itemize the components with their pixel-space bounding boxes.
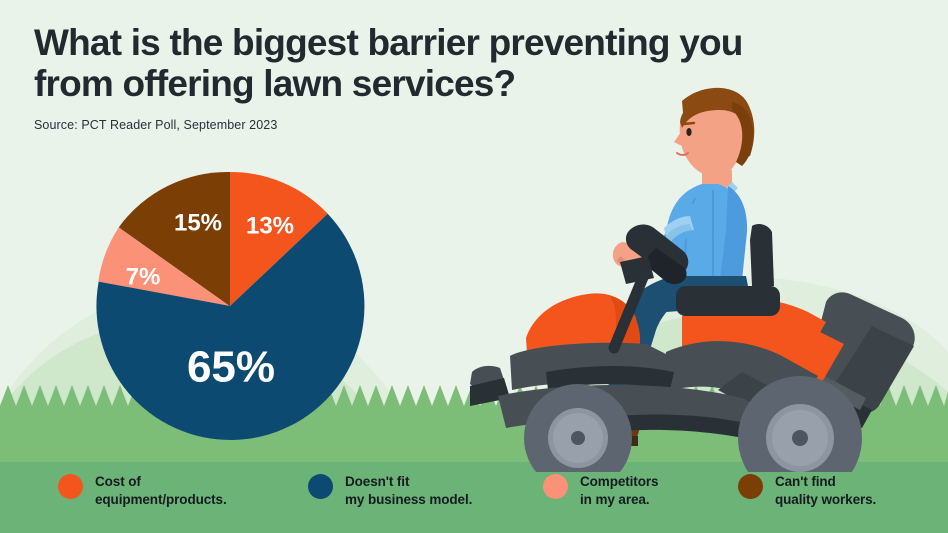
legend-label: Cost of equipment/products. (95, 473, 227, 509)
source-caption: Source: PCT Reader Poll, September 2023 (34, 118, 794, 132)
mower-seat-back (750, 224, 774, 286)
legend-label: Can't find quality workers. (775, 473, 876, 509)
chart-legend: Cost of equipment/products. Doesn't fit … (0, 462, 948, 533)
legend-label: Competitors in my area. (580, 473, 658, 509)
pie-chart: 13% 65% 7% 15% (94, 170, 366, 442)
page-title: What is the biggest barrier preventing y… (34, 22, 794, 105)
pie-chart-svg: 13% 65% 7% 15% (94, 170, 366, 442)
mower-seat (676, 286, 780, 316)
rider-mouth (677, 153, 688, 155)
pie-label-65: 65% (187, 343, 275, 392)
legend-item-cost-of-equipment[interactable]: Cost of equipment/products. (58, 473, 308, 509)
legend-item-business-model[interactable]: Doesn't fit my business model. (308, 473, 543, 509)
pie-label-15: 15% (174, 209, 222, 236)
pie-label-7: 7% (126, 263, 161, 290)
legend-item-quality-workers[interactable]: Can't find quality workers. (738, 473, 938, 509)
header-block: What is the biggest barrier preventing y… (34, 22, 794, 132)
lawn-mower-illustration (470, 80, 948, 472)
legend-swatch-navy-icon (308, 474, 333, 499)
infographic-canvas: What is the biggest barrier preventing y… (0, 0, 948, 533)
rider-nose (674, 132, 682, 146)
legend-swatch-brown-icon (738, 474, 763, 499)
pie-label-13: 13% (246, 212, 294, 239)
legend-swatch-salmon-icon (543, 474, 568, 499)
legend-label: Doesn't fit my business model. (345, 473, 472, 509)
legend-swatch-orange-icon (58, 474, 83, 499)
legend-item-competitors[interactable]: Competitors in my area. (543, 473, 738, 509)
